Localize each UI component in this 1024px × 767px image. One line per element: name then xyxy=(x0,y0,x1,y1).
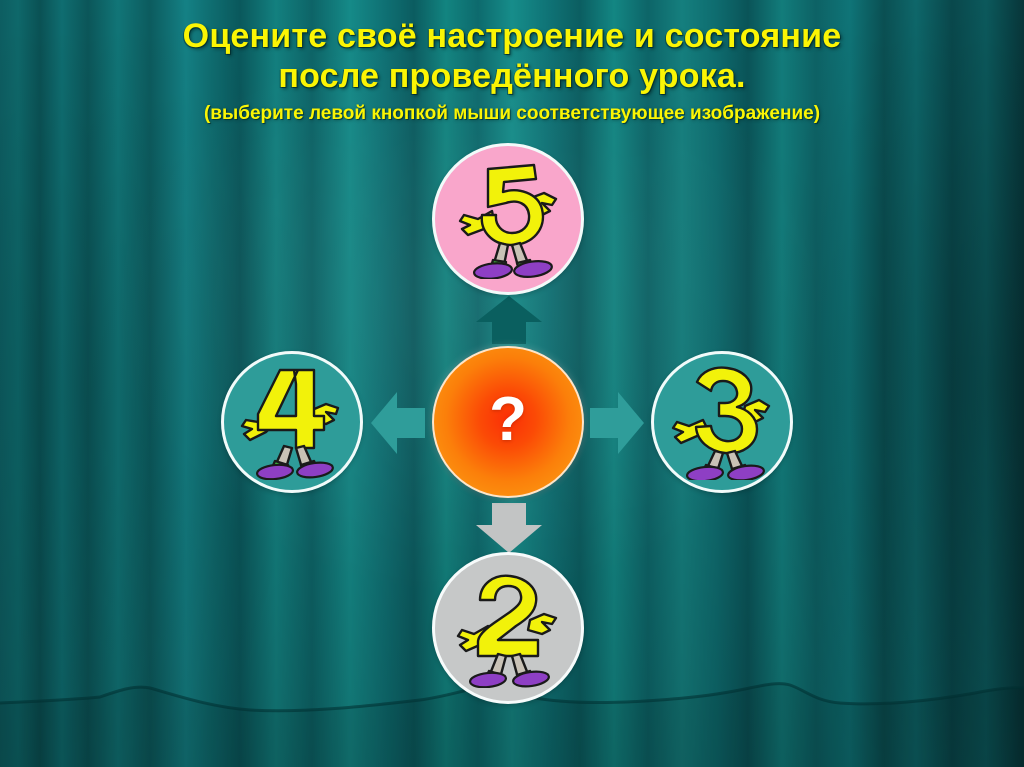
option-circle-4[interactable] xyxy=(221,351,363,493)
question-mark-label: ? xyxy=(489,389,527,451)
number-2-character-icon xyxy=(454,568,562,688)
heading-block: Оцените своё настроение и состояние посл… xyxy=(0,16,1024,127)
page-subtitle: (выберите левой кнопкой мыши соответству… xyxy=(0,101,1024,127)
page-title-line-2: после проведённого урока. xyxy=(0,56,1024,96)
number-3-character-icon xyxy=(669,364,775,480)
option-circle-2[interactable] xyxy=(432,552,584,704)
page-title-line-1: Оцените своё настроение и состояние xyxy=(0,16,1024,56)
option-circle-5[interactable] xyxy=(432,143,584,295)
number-5-character-icon xyxy=(454,159,562,279)
arrow-up-icon xyxy=(476,296,542,344)
arrow-left-icon xyxy=(371,392,425,454)
option-circle-3[interactable] xyxy=(651,351,793,493)
arrow-right-icon xyxy=(590,392,644,454)
arrow-down-icon xyxy=(476,503,542,553)
number-4-character-icon xyxy=(240,364,344,480)
center-question-circle[interactable]: ? xyxy=(432,346,584,498)
slide-canvas: Оцените своё настроение и состояние посл… xyxy=(0,0,1024,767)
